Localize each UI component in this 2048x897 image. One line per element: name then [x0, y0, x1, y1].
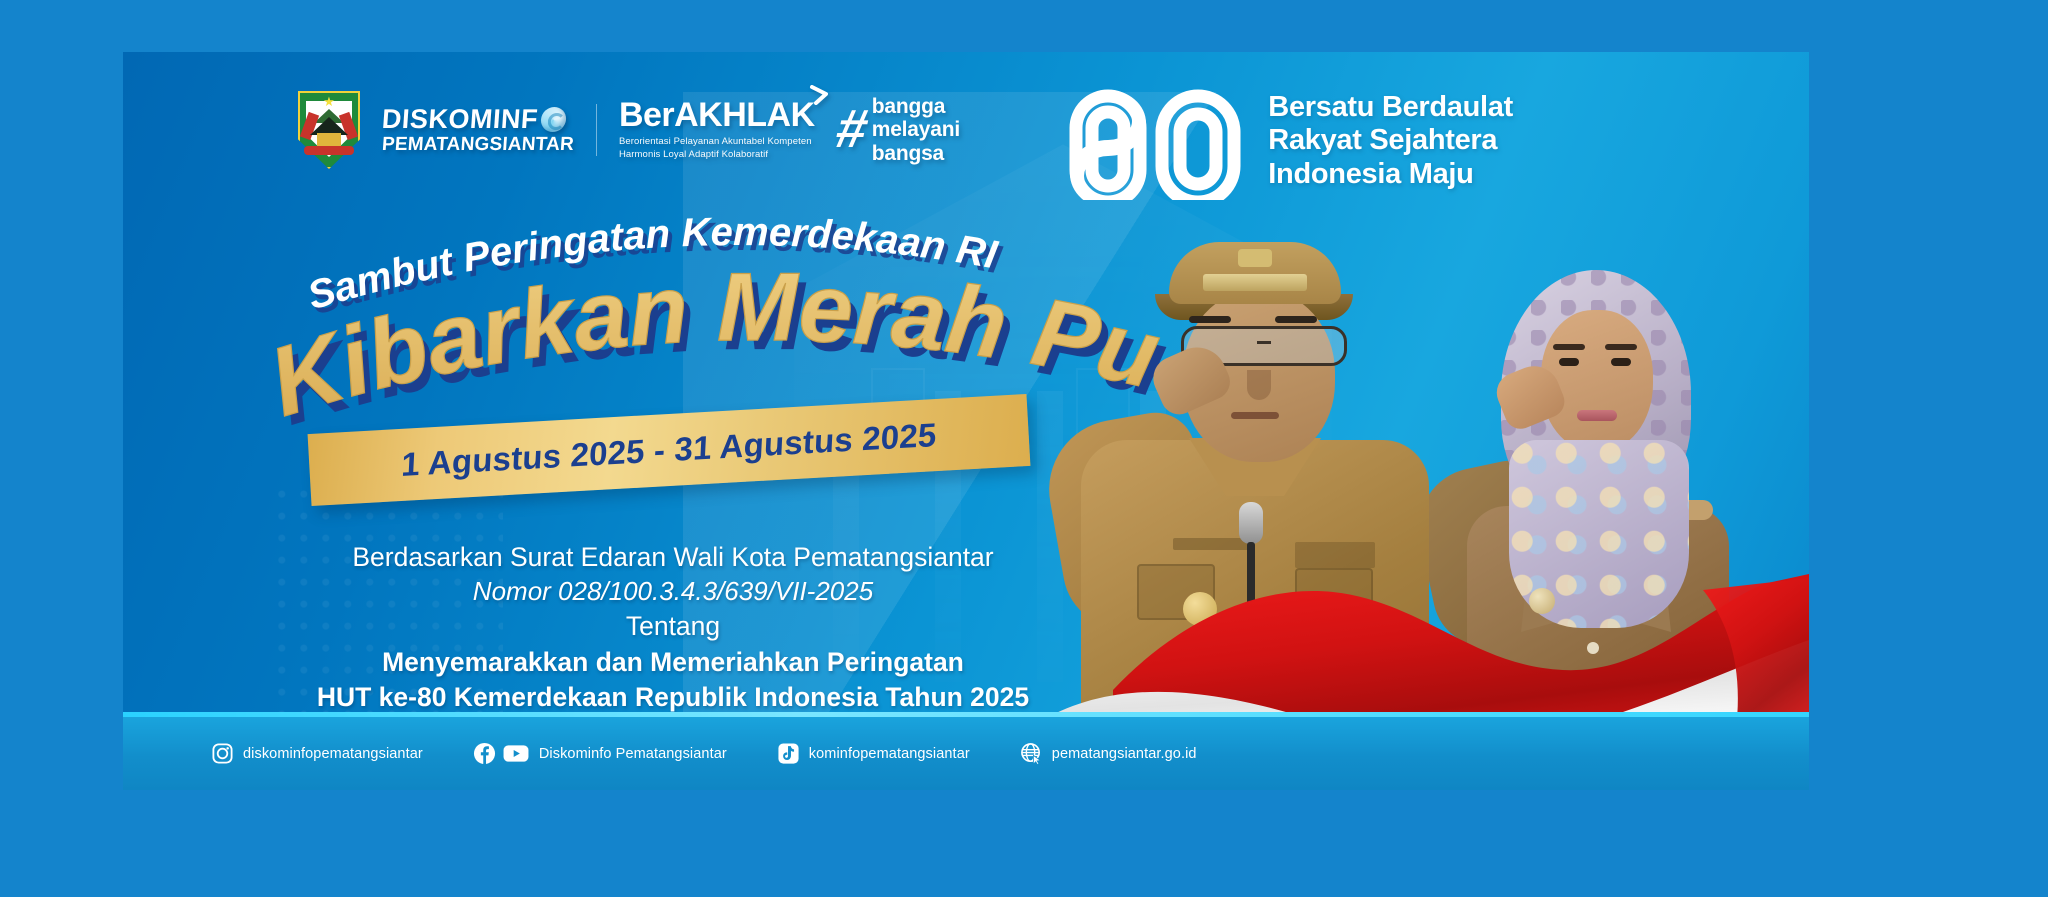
header-logo-row: ★ DISKOMINF PEMATANGSIANTAR BerAKHLAK [298, 80, 960, 180]
bangga-melayani-bangsa-logo: # bangga melayani bangsa [837, 95, 960, 166]
tiktok-icon [777, 742, 800, 765]
berakhlak-title: BerAKHLAK [619, 96, 815, 134]
diskominfo-line2: PEMATANGSIANTAR [381, 135, 574, 154]
tagline-line2: Rakyat Sejahtera [1268, 124, 1513, 158]
decree-line-2: Nomor 028/100.3.4.3/639/VII-2025 [273, 576, 1073, 608]
chevron-accent-icon [809, 85, 829, 105]
wave-swirl-o-icon [540, 107, 567, 132]
tagline-line1: Bersatu Berdaulat [1268, 91, 1513, 125]
svg-text:Sambut Peringatan Kemerdekaan: Sambut Peringatan Kemerdekaan RI [303, 210, 1001, 318]
footer-item-instagram[interactable]: diskominfopematangsiantar [211, 742, 423, 765]
footer-label-tiktok: kominfopematangsiantar [809, 746, 970, 762]
hashtag-icon: # [832, 107, 870, 153]
officials-photo-group [1003, 202, 1809, 790]
logo-divider [596, 104, 597, 156]
date-ribbon-text: 1 Agustus 2025 - 31 Agustus 2025 [401, 416, 938, 484]
decree-line-1: Berdasarkan Surat Edaran Wali Kota Pemat… [273, 542, 1073, 573]
instagram-icon [211, 742, 234, 765]
decree-line-3: Tentang [273, 611, 1073, 643]
footer-label-instagram: diskominfopematangsiantar [243, 746, 423, 762]
berakhlak-logo: BerAKHLAK Berorientasi Pelayanan Akuntab… [619, 98, 815, 162]
bangga-line1: bangga [872, 95, 960, 119]
youtube-icon [502, 742, 530, 765]
decree-line-5: HUT ke-80 Kemerdekaan Republik Indonesia… [273, 681, 1073, 713]
diskominfo-wordmark: DISKOMINF PEMATANGSIANTAR [382, 106, 574, 154]
berakhlak-sub1: Berorientasi Pelayanan Akuntabel Kompete… [619, 136, 815, 149]
facebook-icon [473, 742, 496, 765]
bangga-line3: bangsa [872, 142, 960, 166]
svg-text:Sambut Peringatan Kemerdekaan: Sambut Peringatan Kemerdekaan RI [307, 215, 1005, 323]
berakhlak-sub2: Harmonis Loyal Adaptif Kolaboratif [619, 149, 815, 162]
date-ribbon: 1 Agustus 2025 - 31 Agustus 2025 [308, 394, 1031, 506]
decree-body-text: Berdasarkan Surat Edaran Wali Kota Pemat… [273, 542, 1073, 713]
anniversary-logo-block: Bersatu Berdaulat Rakyat Sejahtera Indon… [1062, 82, 1513, 200]
anniversary-tagline: Bersatu Berdaulat Rakyat Sejahtera Indon… [1268, 91, 1513, 192]
pematangsiantar-city-emblem-icon: ★ [298, 91, 360, 169]
decree-line-4: Menyemarakkan dan Memeriahkan Peringatan [273, 646, 1073, 678]
footer-item-tiktok[interactable]: kominfopematangsiantar [777, 742, 970, 765]
independence-day-banner: ★ DISKOMINF PEMATANGSIANTAR BerAKHLAK [123, 52, 1809, 790]
footer-item-facebook-youtube[interactable]: Diskominfo Pematangsiantar [473, 742, 727, 765]
bangga-line2: melayani [872, 118, 960, 142]
footer-label-website: pematangsiantar.go.id [1052, 746, 1197, 762]
diskominfo-line1: DISKOMINF [381, 106, 539, 133]
globe-icon [1020, 742, 1043, 765]
banner-stage: ★ DISKOMINF PEMATANGSIANTAR BerAKHLAK [0, 0, 2048, 897]
social-footer-bar: diskominfopematangsiantar Diskominfo Pem… [123, 717, 1809, 790]
footer-label-facebook-youtube: Diskominfo Pematangsiantar [539, 746, 727, 762]
eighty-years-logo-icon [1062, 82, 1252, 200]
tagline-line3: Indonesia Maju [1268, 158, 1513, 192]
footer-item-website[interactable]: pematangsiantar.go.id [1020, 742, 1197, 765]
